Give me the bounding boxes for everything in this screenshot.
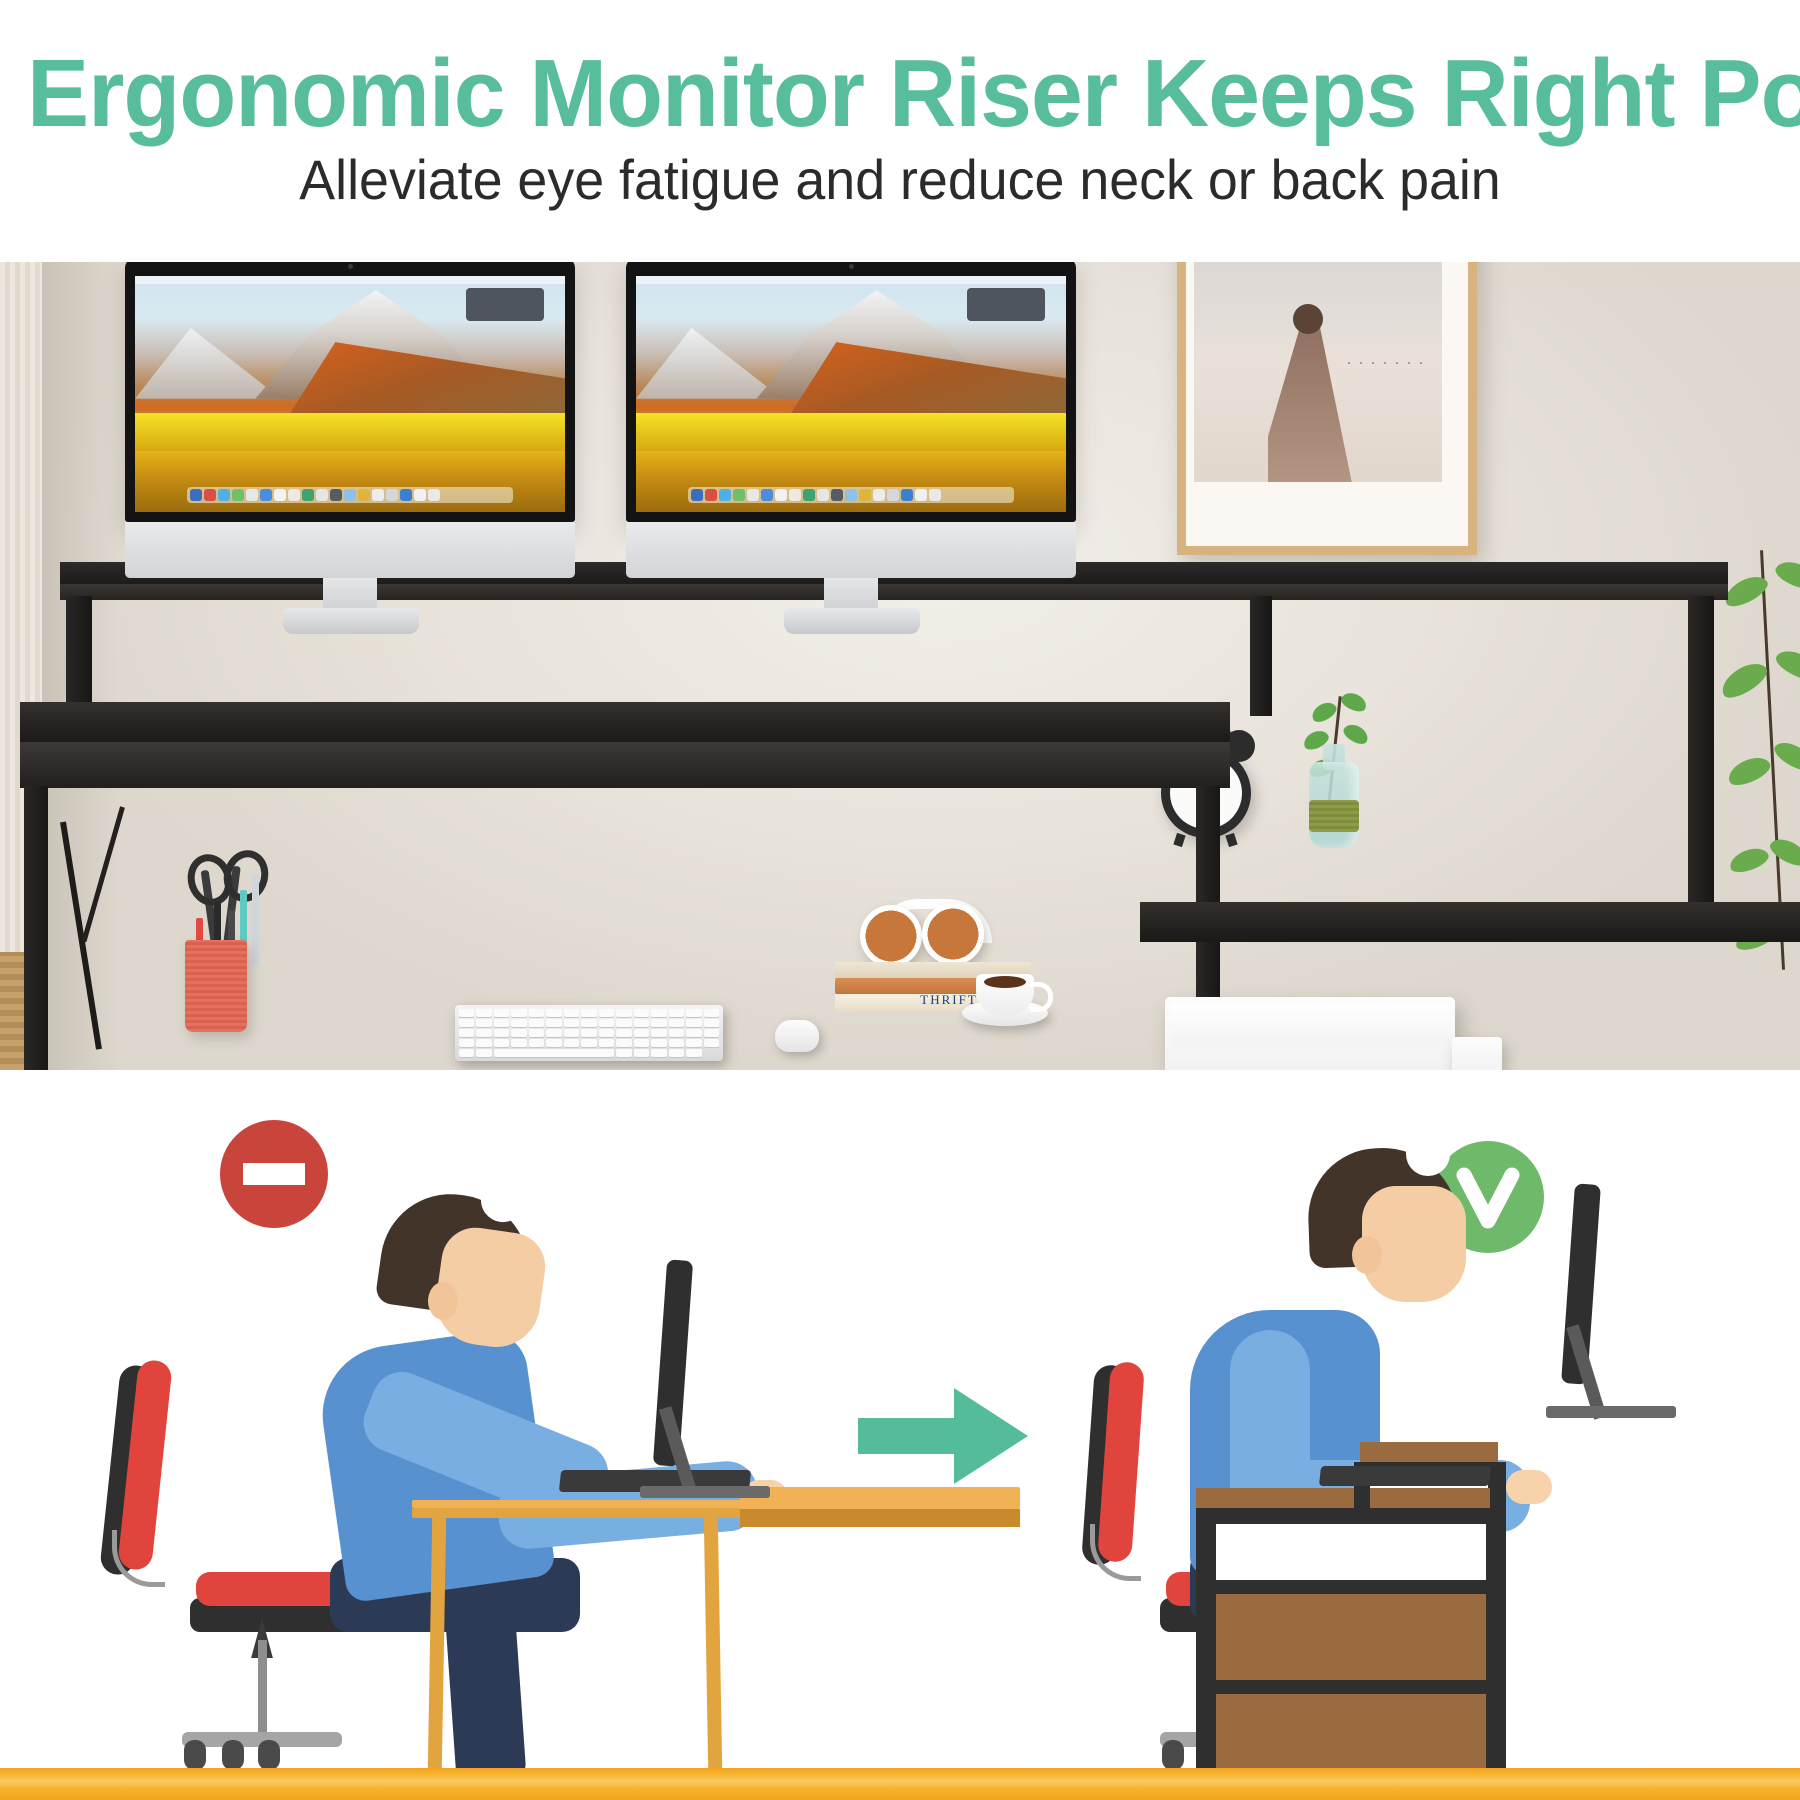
monitor-illustration-base — [640, 1486, 770, 1498]
webcam — [348, 264, 353, 269]
headphone-cup-right — [922, 903, 984, 965]
product-marketing-image: Ergonomic Monitor Riser Keeps Right Post… — [0, 0, 1800, 1800]
hand — [1506, 1470, 1552, 1504]
no-entry-icon-bar — [243, 1163, 305, 1185]
desk-divider — [1196, 1680, 1506, 1694]
printer: EPSON — [1165, 997, 1455, 1070]
riser-shelf-top — [1360, 1442, 1498, 1464]
poster-artwork — [1194, 262, 1442, 482]
mouse — [775, 1020, 819, 1052]
header-band: Ergonomic Monitor Riser Keeps Right Post… — [0, 0, 1800, 262]
macos-dock — [187, 487, 514, 503]
monitor-riser-shelf-edge — [60, 584, 1728, 600]
vase-rope-wrap — [1309, 800, 1359, 832]
right-arrow-icon — [858, 1388, 1028, 1484]
riser-leg-middle — [1250, 596, 1272, 716]
macos-menubar — [636, 276, 1066, 284]
ear — [1352, 1236, 1382, 1274]
desk-drawer-upper — [1216, 1594, 1486, 1686]
chair-caster — [258, 1740, 280, 1770]
poster-road — [1268, 314, 1352, 482]
coffee-liquid — [984, 976, 1026, 988]
macos-dock — [688, 487, 1015, 503]
desktop-widget — [967, 288, 1044, 321]
desk-surface-front — [412, 1508, 742, 1518]
potted-plant — [1745, 550, 1800, 1020]
leg — [443, 1588, 526, 1782]
monitor-right-screen — [636, 276, 1066, 512]
headphones — [848, 897, 998, 969]
footer-accent-bar — [0, 1768, 1800, 1800]
monitor-left-screen — [135, 276, 565, 512]
webcam — [849, 264, 854, 269]
ear — [428, 1282, 458, 1320]
plant-vase — [1303, 738, 1365, 848]
desk-side-right — [1486, 1508, 1506, 1770]
desk-surface-top — [412, 1500, 742, 1508]
keyboard-illustration — [1319, 1466, 1491, 1486]
desk-surface — [740, 1487, 1020, 1509]
printer-ink-tank — [1452, 1037, 1502, 1070]
macos-menubar — [135, 276, 565, 284]
poster-fence — [1348, 362, 1422, 364]
chair-caster — [222, 1740, 244, 1770]
printer-lid — [1171, 1003, 1449, 1045]
page-subtitle: Alleviate eye fatigue and reduce neck or… — [36, 148, 1764, 212]
wall-poster — [1177, 262, 1477, 555]
product-photo: THRIFT EPSON — [0, 262, 1800, 1070]
desk-surface — [1196, 1488, 1506, 1510]
desktop-widget — [466, 288, 543, 321]
keyboard — [455, 1005, 723, 1061]
desk-leg-left — [24, 786, 48, 1070]
desk-cabinet-opening — [1216, 1524, 1486, 1580]
desk-top-edge — [20, 742, 1230, 788]
pencil-cup — [185, 940, 247, 1032]
chair-caster — [184, 1740, 206, 1770]
riser-leg-right — [1688, 596, 1714, 906]
monitor-illustration-base — [1546, 1406, 1676, 1418]
desk-apron — [740, 1509, 1020, 1527]
desk-drawer-lower — [1216, 1694, 1486, 1770]
page-title: Ergonomic Monitor Riser Keeps Right Post… — [27, 42, 1773, 146]
lower-shelf — [1140, 902, 1800, 942]
chair-post — [258, 1640, 267, 1740]
chair-caster — [1162, 1740, 1184, 1770]
headphone-cup-left — [860, 905, 922, 967]
desk-side-left — [1196, 1508, 1216, 1770]
